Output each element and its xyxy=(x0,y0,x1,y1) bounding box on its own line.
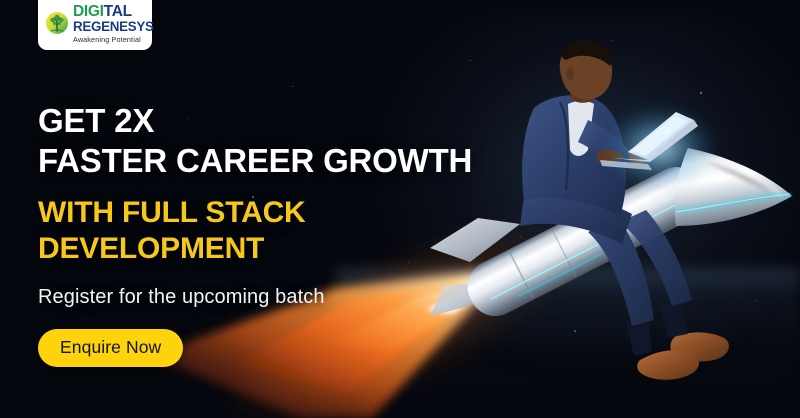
copy-block: GET 2X FASTER CAREER GROWTH WITH FULL ST… xyxy=(38,104,508,367)
logo-tagline: Awakening Potential xyxy=(73,36,154,43)
brand-logo-card[interactable]: DIGITAL REGENESYS Awakening Potential xyxy=(38,0,152,50)
logo-text-tal: TAL xyxy=(104,4,132,20)
headline-line-1: GET 2X xyxy=(38,104,508,138)
headline-line-3: WITH FULL STACK xyxy=(38,197,508,228)
logo-text-digi: DIGI xyxy=(73,4,104,20)
logo-wordmark-line1: DIGITAL xyxy=(73,4,154,20)
tree-circle-emblem xyxy=(45,11,69,35)
headline-line-4: DEVELOPMENT xyxy=(38,233,508,264)
enquire-now-button[interactable]: Enquire Now xyxy=(38,329,183,367)
subheadline: Register for the upcoming batch xyxy=(38,286,508,309)
headline-line-2: FASTER CAREER GROWTH xyxy=(38,144,508,178)
logo-wordmark-line2: REGENESYS xyxy=(73,20,154,33)
promotional-banner: DIGITAL REGENESYS Awakening Potential GE… xyxy=(0,0,800,418)
